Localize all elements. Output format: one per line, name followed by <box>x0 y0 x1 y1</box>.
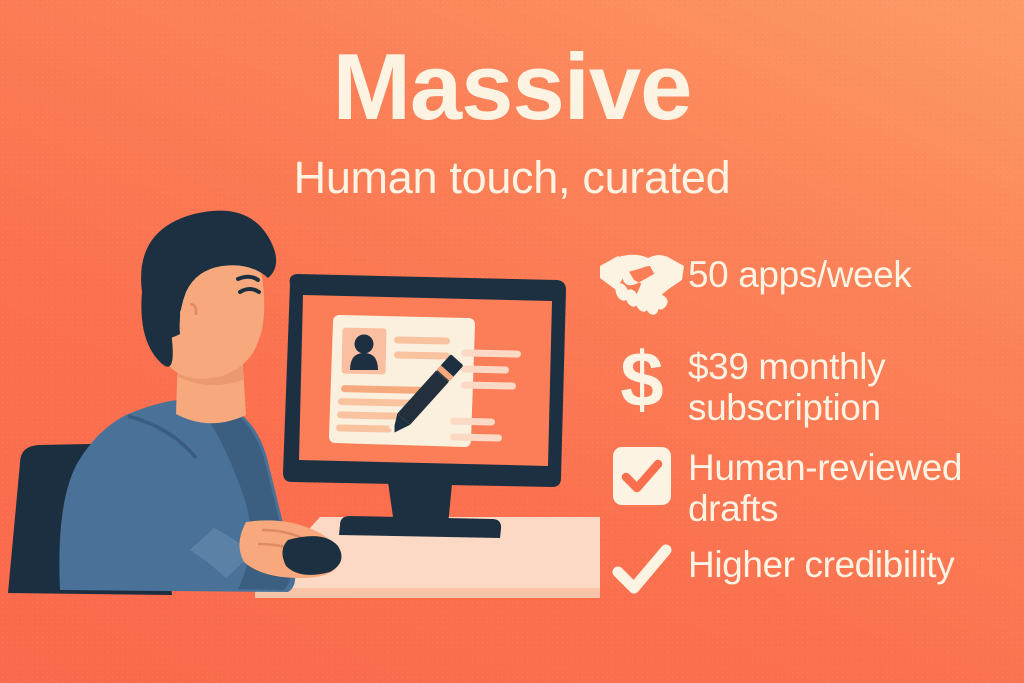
feature-item-monthly-subscription: $ $39 monthly subscription <box>596 344 1024 429</box>
feature-item-human-reviewed: Human-reviewed drafts <box>596 445 1024 530</box>
page-subtitle: Human touch, curated <box>0 153 1024 203</box>
feature-item-higher-credibility: Higher credibility <box>596 542 1024 598</box>
illustration-person-at-computer <box>0 200 600 683</box>
handshake-icon <box>596 252 688 318</box>
feature-label: $39 monthly subscription <box>688 344 885 429</box>
desk-surface-edge <box>255 588 600 598</box>
page-title: Massive <box>0 38 1024 137</box>
feature-label: Human-reviewed drafts <box>688 445 962 530</box>
feature-label: 50 apps/week <box>688 252 912 295</box>
computer-mouse <box>282 536 341 575</box>
promo-poster: Massive Human touch, curated <box>0 0 1024 683</box>
checkmark-icon <box>596 542 688 598</box>
dollar-sign-icon: $ <box>596 344 688 414</box>
feature-list: 50 apps/week $ $39 monthly subscription … <box>596 252 1024 620</box>
monitor-stand-base <box>339 516 501 538</box>
checkbox-checked-icon <box>596 445 688 507</box>
feature-label: Higher credibility <box>688 542 954 585</box>
dollar-glyph: $ <box>620 344 663 414</box>
headings-block: Massive Human touch, curated <box>0 38 1024 202</box>
feature-item-apps-per-week: 50 apps/week <box>596 252 1024 318</box>
